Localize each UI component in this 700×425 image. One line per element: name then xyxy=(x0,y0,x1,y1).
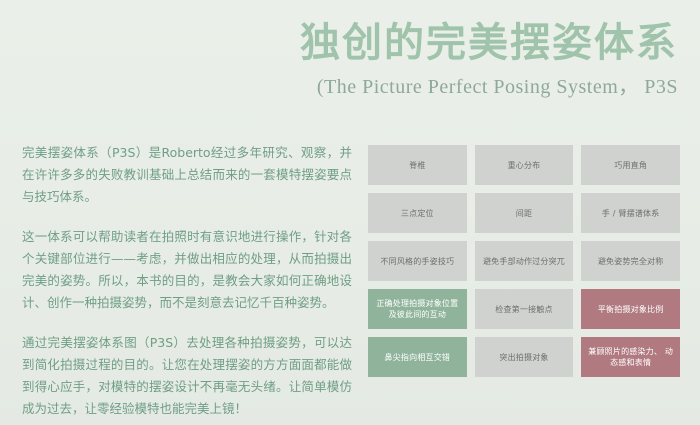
grid-cell: 避免手部动作过分突兀 xyxy=(475,241,574,281)
page-title-chinese: 独创的完美摆姿体系 xyxy=(0,18,678,68)
grid-cell: 避免姿势完全对称 xyxy=(581,241,680,281)
body-text-column: 完美摆姿体系（P3S）是Roberto经过多年研究、观察，并在许许多多的失败教训… xyxy=(22,142,352,420)
page-title-english: (The Picture Perfect Posing System， P3S xyxy=(0,74,678,100)
grid-cell: 手 / 臂摆谱体系 xyxy=(581,193,680,233)
grid-cell: 平衡拍摄对象比例 xyxy=(581,289,680,329)
grid-cell: 突出拍摄对象 xyxy=(475,337,574,377)
grid-cell: 正确处理拍摄对象位置 及彼此间的互动 xyxy=(368,289,467,329)
grid-cell: 三点定位 xyxy=(368,193,467,233)
grid-cell: 鼻尖指向相互交错 xyxy=(368,337,467,377)
grid-cell: 脊椎 xyxy=(368,145,467,185)
grid-cell: 兼顾照片的感染力、 动态感和表情 xyxy=(581,337,680,377)
grid-cell: 间距 xyxy=(475,193,574,233)
posing-system-grid: 脊椎 重心分布 巧用直角 三点定位 间距 手 / 臂摆谱体系 不同风格的手姿技巧… xyxy=(368,145,680,377)
poster-page: 独创的完美摆姿体系 (The Picture Perfect Posing Sy… xyxy=(0,0,700,425)
poster-header: 独创的完美摆姿体系 (The Picture Perfect Posing Sy… xyxy=(0,18,700,100)
paragraph-2: 这一体系可以帮助读者在拍照时有意识地进行操作，针对各个关键部位进行——考虑，并做… xyxy=(22,226,352,314)
paragraph-1: 完美摆姿体系（P3S）是Roberto经过多年研究、观察，并在许许多多的失败教训… xyxy=(22,142,352,208)
grid-cell: 重心分布 xyxy=(475,145,574,185)
grid-cell: 不同风格的手姿技巧 xyxy=(368,241,467,281)
grid-cell: 检查第一接触点 xyxy=(475,289,574,329)
grid-cell: 巧用直角 xyxy=(581,145,680,185)
paragraph-3: 通过完美摆姿体系图（P3S）去处理各种拍摄姿势，可以达到简化拍摄过程的目的。让您… xyxy=(22,332,352,420)
